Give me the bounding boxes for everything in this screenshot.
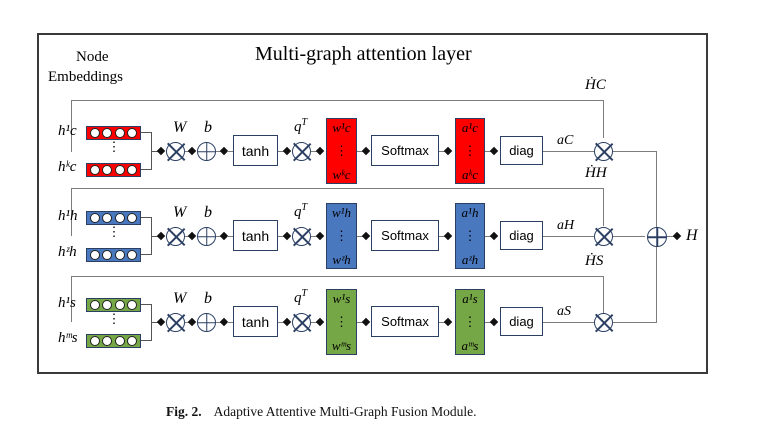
embedding-cell — [127, 250, 137, 260]
skip-wire-c-down — [603, 100, 604, 138]
query-label-h: qT — [294, 203, 307, 220]
add-operator-b-h — [197, 227, 216, 246]
wire-diag-to-mult-c — [543, 151, 594, 152]
multiply-operator-fuse-c — [594, 142, 613, 161]
attention-vector-ellipsis-s: ⋮ — [464, 319, 477, 326]
multiply-operator-w-s — [166, 313, 185, 332]
embedding-cell — [102, 165, 112, 175]
embedding-cell — [127, 165, 137, 175]
bias-label-h: b — [204, 205, 212, 221]
multiply-operator-q-h — [292, 227, 311, 246]
multiply-operator-fuse-s — [594, 313, 613, 332]
embedding-cell — [127, 213, 137, 223]
multiply-operator-fuse-h — [594, 227, 613, 246]
wire-fuse-c-down — [656, 151, 657, 236]
weight-vector-bottom-h: wᶻh — [332, 253, 350, 266]
skip-label-c: ḢC — [585, 78, 606, 93]
skip-label-h: ḢH — [585, 166, 607, 181]
embedding-cell — [102, 213, 112, 223]
diagram-title: Multi-graph attention layer — [255, 44, 472, 64]
weight-vector-block-c: w¹c ⋮ wᵏc — [326, 118, 357, 184]
caption-text: Adaptive Attentive Multi-Graph Fusion Mo… — [214, 404, 477, 419]
bias-label-c: b — [204, 120, 212, 136]
weight-vector-ellipsis-c: ⋮ — [335, 148, 348, 155]
multiply-operator-q-c — [292, 142, 311, 161]
skip-label-s: ḢS — [585, 254, 603, 269]
weight-vector-top-h: w¹h — [332, 206, 351, 219]
embedding-cell — [102, 336, 112, 346]
embedding-label-h-bottom: hᶻh — [58, 245, 77, 260]
figure-caption: Fig. 2. Adaptive Attentive Multi-Graph F… — [166, 404, 477, 420]
embedding-cell — [102, 250, 112, 260]
add-operator-final-sum — [647, 227, 667, 247]
embedding-cell — [90, 336, 100, 346]
attention-vector-bottom-h: aᶻh — [462, 253, 478, 266]
wire-fuse-c-out — [613, 151, 657, 152]
softmax-box-s: Softmax — [371, 306, 439, 337]
figure-canvas: Node Embeddings Multi-graph attention la… — [0, 0, 758, 441]
weight-vector-bottom-c: wᵏc — [332, 168, 350, 181]
embedding-strip-c-bottom — [86, 163, 141, 177]
attention-vector-bottom-s: aᵐs — [462, 339, 479, 352]
tanh-box-h: tanh — [233, 220, 278, 251]
bias-label-s: b — [204, 291, 212, 307]
multiply-operator-q-s — [292, 313, 311, 332]
weight-vector-block-s: w¹s ⋮ wᵐs — [326, 289, 357, 355]
attention-vector-top-c: a¹c — [462, 121, 478, 134]
embedding-cell — [115, 250, 125, 260]
embedding-strip-h-top — [86, 211, 141, 225]
weight-label-h: W — [173, 205, 186, 221]
embedding-cell — [127, 300, 137, 310]
embedding-cell — [115, 300, 125, 310]
embedding-ellipsis-s: ⋮ — [106, 315, 122, 323]
softmax-box-c: Softmax — [371, 135, 439, 166]
wire-fuse-s-out — [613, 322, 657, 323]
skip-wire-c-top — [71, 100, 604, 101]
embedding-cell — [102, 300, 112, 310]
embedding-cell — [90, 250, 100, 260]
embedding-cell — [115, 213, 125, 223]
embedding-strip-s-top — [86, 298, 141, 312]
wire-diag-to-mult-s — [543, 322, 594, 323]
weight-vector-block-h: w¹h ⋮ wᶻh — [326, 203, 357, 269]
output-label: H — [686, 228, 698, 244]
embedding-label-h-top: h¹h — [58, 209, 78, 224]
embedding-label-s-bottom: hᵐs — [58, 331, 78, 346]
wire-diag-to-mult-h — [543, 236, 594, 237]
skip-wire-h-down — [603, 188, 604, 226]
attention-vector-ellipsis-c: ⋮ — [464, 148, 477, 155]
embedding-cell — [90, 165, 100, 175]
wire-fuse-s-up — [656, 236, 657, 322]
attention-vector-block-h: a¹h ⋮ aᶻh — [455, 203, 485, 269]
embedding-cell — [115, 336, 125, 346]
embedding-strip-c-top — [86, 126, 141, 140]
node-embeddings-label-line2: Embeddings — [48, 70, 123, 85]
softmax-box-h: Softmax — [371, 220, 439, 251]
attention-vector-top-h: a¹h — [462, 206, 479, 219]
skip-wire-h-top — [71, 188, 604, 189]
weight-vector-top-s: w¹s — [333, 292, 351, 305]
embedding-strip-h-bottom — [86, 248, 141, 262]
embedding-label-s-top: h¹s — [58, 296, 76, 311]
multiply-operator-w-c — [166, 142, 185, 161]
wire-fuse-h-out — [613, 236, 645, 237]
add-operator-b-c — [197, 142, 216, 161]
diag-box-s: diag — [500, 307, 543, 336]
weight-label-c: W — [173, 120, 186, 136]
node-embeddings-label-line1: Node — [76, 50, 109, 65]
embedding-strip-s-bottom — [86, 334, 141, 348]
embedding-label-c-top: h¹c — [58, 124, 77, 139]
embedding-cell — [102, 128, 112, 138]
embedding-ellipsis-h: ⋮ — [106, 228, 122, 236]
skip-wire-s-top — [71, 276, 604, 277]
attention-scalar-label-h: aH — [557, 219, 574, 233]
weight-vector-bottom-s: wᵐs — [332, 339, 351, 352]
embedding-cell — [90, 213, 100, 223]
query-label-c: qTqT — [294, 118, 307, 135]
tanh-box-c: tanh — [233, 135, 278, 166]
tanh-box-s: tanh — [233, 306, 278, 337]
attention-scalar-label-s: aS — [557, 305, 571, 319]
embedding-cell — [127, 128, 137, 138]
attention-vector-block-s: a¹s ⋮ aᵐs — [455, 289, 485, 355]
embedding-ellipsis-c: ⋮ — [106, 143, 122, 151]
attention-scalar-label-c: aC — [557, 134, 573, 148]
embedding-label-c-bottom: hᵏc — [58, 160, 76, 175]
weight-label-s: W — [173, 291, 186, 307]
query-label-s: qT — [294, 289, 307, 306]
caption-prefix: Fig. 2. — [166, 404, 202, 419]
diag-box-c: diag — [500, 136, 543, 165]
embedding-cell — [115, 128, 125, 138]
embedding-cell — [127, 336, 137, 346]
weight-vector-top-c: w¹c — [332, 121, 350, 134]
attention-vector-block-c: a¹c ⋮ aᵏc — [455, 118, 485, 184]
embedding-cell — [115, 165, 125, 175]
add-operator-b-s — [197, 313, 216, 332]
embedding-cell — [90, 128, 100, 138]
attention-vector-ellipsis-h: ⋮ — [464, 233, 477, 240]
embedding-cell — [90, 300, 100, 310]
attention-vector-top-s: a¹s — [462, 292, 477, 305]
weight-vector-ellipsis-s: ⋮ — [335, 319, 348, 326]
skip-wire-s-down — [603, 276, 604, 313]
attention-vector-bottom-c: aᵏc — [462, 168, 478, 181]
multiply-operator-w-h — [166, 227, 185, 246]
diag-box-h: diag — [500, 221, 543, 250]
weight-vector-ellipsis-h: ⋮ — [335, 233, 348, 240]
